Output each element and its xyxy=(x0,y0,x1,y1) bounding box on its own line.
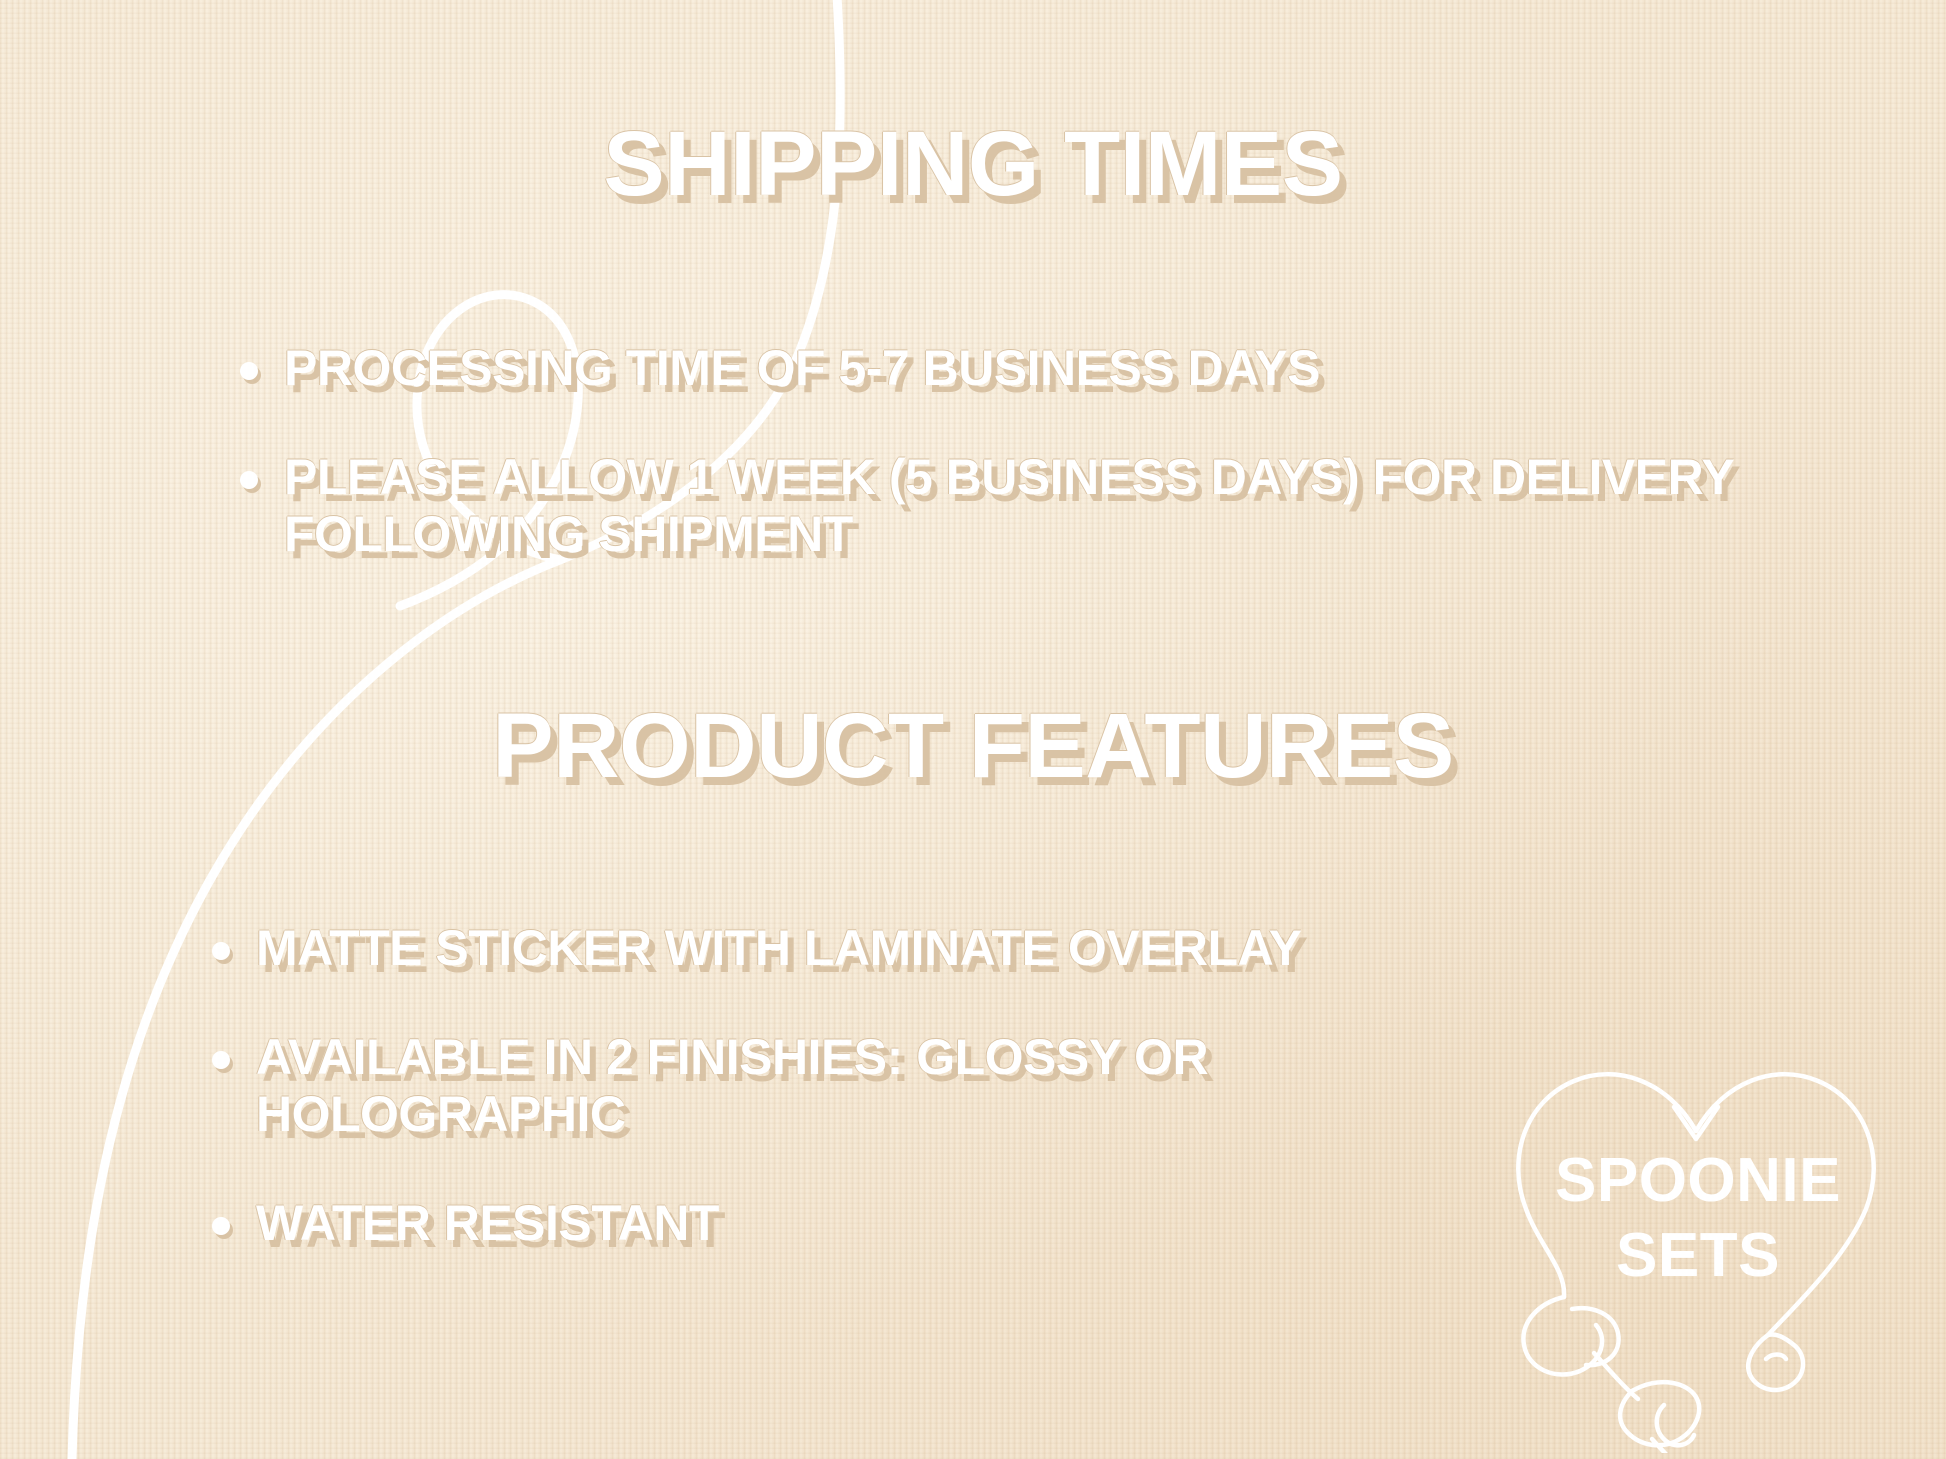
list-item: PROCESSING TIME OF 5-7 BUSINESS DAYS xyxy=(240,340,1866,397)
slide-canvas: SHIPPING TIMES PROCESSING TIME OF 5-7 BU… xyxy=(0,0,1946,1459)
list-item-label: PLEASE ALLOW 1 WEEK (5 BUSINESS DAYS) FO… xyxy=(284,449,1866,563)
list-item: AVAILABLE IN 2 FINISHIES: GLOSSY OR HOLO… xyxy=(212,1029,1526,1143)
list-item-label: MATTE STICKER WITH LAMINATE OVERLAY xyxy=(256,920,1301,977)
list-item-label: AVAILABLE IN 2 FINISHIES: GLOSSY OR HOLO… xyxy=(256,1029,1526,1143)
list-item-label: PROCESSING TIME OF 5-7 BUSINESS DAYS xyxy=(284,340,1320,397)
brand-logo: SPOONIE SETS xyxy=(1468,1053,1928,1453)
page-title-shipping-times: SHIPPING TIMES xyxy=(0,118,1946,210)
bullet-dot-icon xyxy=(212,1217,230,1235)
page-title-product-features: PRODUCT FEATURES xyxy=(0,700,1946,792)
list-item: PLEASE ALLOW 1 WEEK (5 BUSINESS DAYS) FO… xyxy=(240,449,1866,563)
bullet-dot-icon xyxy=(212,1051,230,1069)
bullet-dot-icon xyxy=(240,362,258,380)
list-item: MATTE STICKER WITH LAMINATE OVERLAY xyxy=(212,920,1526,977)
bullet-dot-icon xyxy=(240,471,258,489)
list-item: WATER RESISTANT xyxy=(212,1195,1526,1252)
stethoscope-heart-icon xyxy=(1468,1053,1928,1453)
bullet-dot-icon xyxy=(212,942,230,960)
shipping-bullet-list: PROCESSING TIME OF 5-7 BUSINESS DAYS PLE… xyxy=(240,340,1866,563)
list-item-label: WATER RESISTANT xyxy=(256,1195,719,1252)
product-bullet-list: MATTE STICKER WITH LAMINATE OVERLAY AVAI… xyxy=(212,920,1526,1252)
